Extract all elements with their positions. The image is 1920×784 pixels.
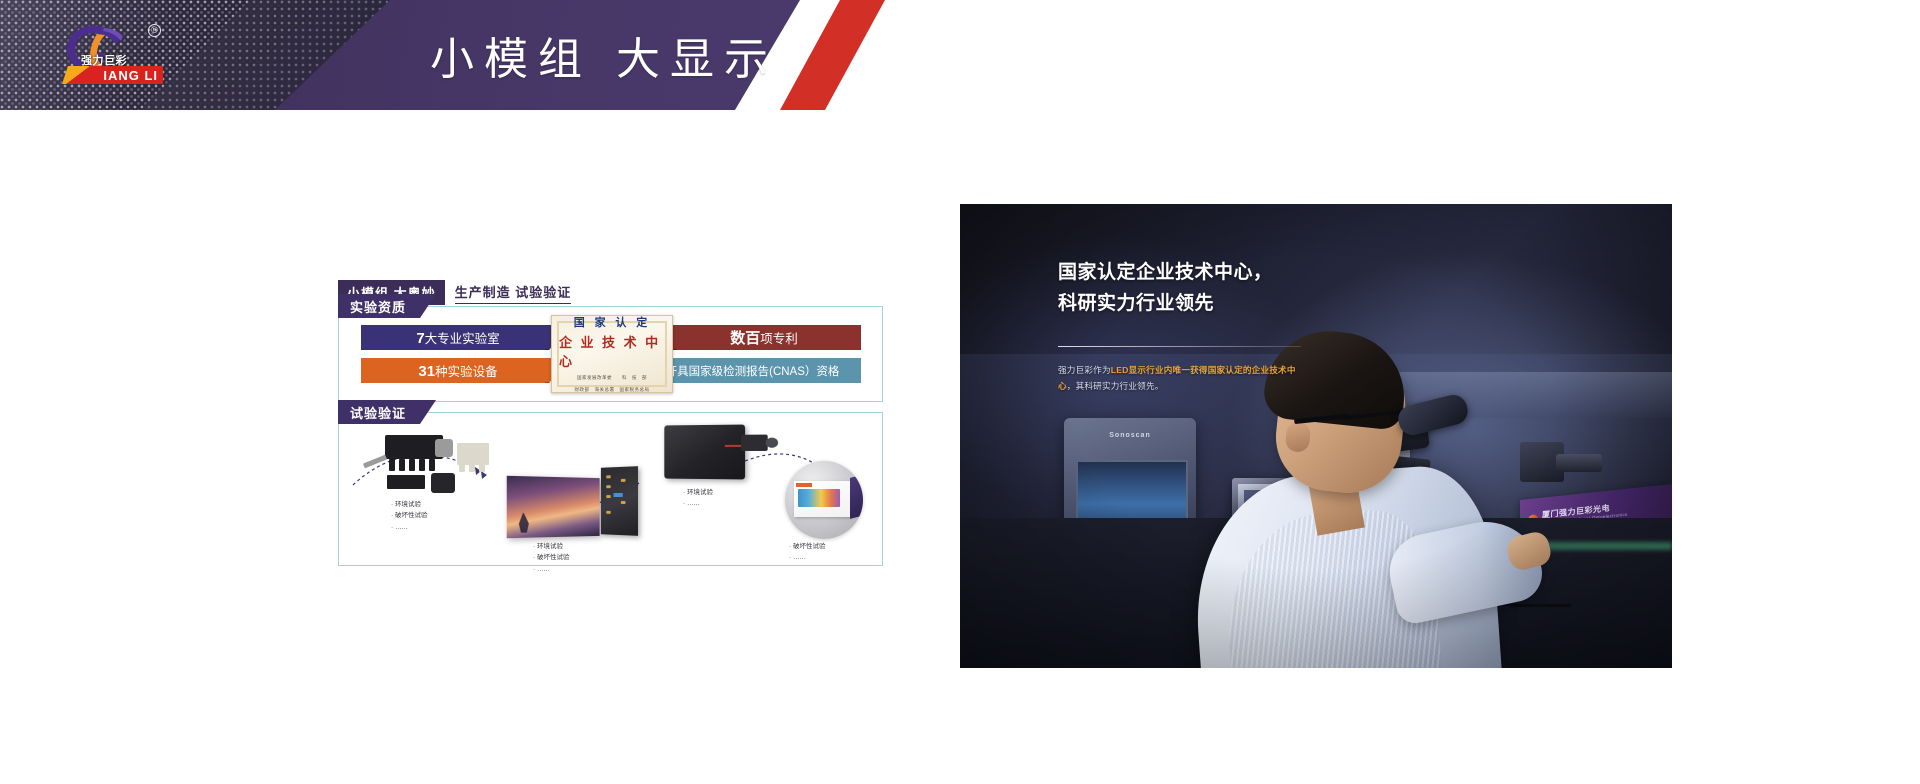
caption-line: · …… xyxy=(789,552,825,563)
banner-equipment: 31种实验设备 xyxy=(361,358,571,383)
flow-step-powerbox-captions: · 环境试验 · …… xyxy=(683,487,713,510)
caption-line: · 破坏性试验 xyxy=(533,552,569,563)
caption-line: · 环境试验 xyxy=(391,499,427,510)
banner-patents-text: 项专利 xyxy=(760,332,798,346)
caption-line: · …… xyxy=(533,564,569,575)
caption-line: · …… xyxy=(391,522,427,533)
photo-heading: 国家认定企业技术中心， 科研实力行业领先 xyxy=(1058,257,1273,320)
product-carton xyxy=(794,481,852,517)
caption-line: · 破坏性试验 xyxy=(391,510,427,521)
carton-side-panel xyxy=(850,474,863,519)
banner-labs-text: 大专业实验室 xyxy=(425,332,500,346)
left-content-card: 小模组 大奥妙 生产制造 试验验证 实验资质 7大专业实验室 31种实验设备 数… xyxy=(338,280,883,630)
banner-patents: 数百项专利 xyxy=(651,325,861,350)
photo-heading-divider xyxy=(1058,346,1301,347)
terminal-pin-3 xyxy=(479,463,485,472)
logo-english-name: IANG LI xyxy=(103,68,158,83)
certificate-inner-frame: 国 家 认 定 企 业 技 术 中 心 国家发展改革委 科 技 部 财政部 海关… xyxy=(557,321,667,387)
verification-flow-diagram: · 环境试验 · 破坏性试验 · …… · 环境试验 · 破坏性试验 · …… xyxy=(339,413,882,565)
photo-heading-line-1: 国家认定企业技术中心， xyxy=(1058,257,1273,288)
photo-body-prefix: 强力巨彩作为 xyxy=(1058,365,1111,375)
caption-line: · 环境试验 xyxy=(533,541,569,552)
sonoscan-brand-label: Sonoscan xyxy=(1064,432,1196,439)
card-subtitle: 生产制造 试验验证 xyxy=(455,282,572,304)
certificate-line-1: 国 家 认 定 xyxy=(574,314,651,330)
logo-name-bar: IANG LI xyxy=(77,66,163,84)
certificate-line-2: 企 业 技 术 中 心 xyxy=(559,332,665,370)
flow-step-power-box: · 环境试验 · …… xyxy=(659,421,789,521)
banner-labs: 7大专业实验室 xyxy=(361,325,571,350)
ic-chip xyxy=(387,475,425,489)
pin-2 xyxy=(399,459,405,471)
photo-body-text: 强力巨彩作为LED显示行业内唯一获得国家认定的企业技术中心，其科研实力行业领先。 xyxy=(1058,363,1296,395)
registered-trademark-icon: ® xyxy=(148,24,161,37)
terminal-pin-1 xyxy=(459,463,465,472)
terminal-pin-2 xyxy=(469,463,475,472)
qualification-panel: 实验资质 7大专业实验室 31种实验设备 数百项专利 具备开具国家级检测报告(C… xyxy=(338,306,883,402)
flow-step-screen-captions: · 环境试验 · 破坏性试验 · …… xyxy=(533,541,569,575)
qualification-tab-label: 实验资质 xyxy=(338,294,436,318)
banner-patents-number: 数百 xyxy=(730,330,760,347)
power-supply-box xyxy=(664,425,745,480)
carton-artwork xyxy=(798,489,840,507)
flow-step-packaged-product: · 破坏性试验 · …… xyxy=(783,461,879,561)
product-photo-circle xyxy=(785,461,863,539)
screw-icon xyxy=(363,455,387,469)
page-header: ® 强力巨彩 IANG LI 小模组 大显示 xyxy=(0,0,1920,110)
photo-body-suffix: ，其科研实力行业领先。 xyxy=(1067,381,1164,391)
led-display-screen xyxy=(507,476,600,538)
verification-panel: 试验验证 xyxy=(338,412,883,566)
caption-line: · 环境试验 xyxy=(683,487,713,498)
small-part xyxy=(435,439,453,457)
pin-4 xyxy=(419,459,425,471)
banner-equipment-text: 种实验设备 xyxy=(435,365,498,379)
company-logo: ® 强力巨彩 IANG LI xyxy=(55,22,165,88)
lab-photo-panel: Sonoscan 厦门强力巨彩光电 Xiamen Qiangli Jucai O… xyxy=(960,204,1672,668)
page-title: 小模组 大显示 xyxy=(430,0,778,110)
caption-line: · …… xyxy=(683,498,713,509)
flow-step-components: · 环境试验 · 破坏性试验 · …… xyxy=(361,427,481,537)
led-package xyxy=(431,473,455,493)
flow-step-product-captions: · 破坏性试验 · …… xyxy=(789,541,825,564)
pin-3 xyxy=(409,459,415,471)
photo-heading-line-2: 科研实力行业领先 xyxy=(1058,288,1273,319)
led-module-pcb xyxy=(601,466,638,536)
power-connector xyxy=(741,435,768,451)
banner-labs-number: 7 xyxy=(416,330,424,347)
pin-5 xyxy=(429,459,435,471)
certificate-fine-print-2: 财政部 海关总署 国家税务总局 xyxy=(575,387,650,394)
banner-equipment-number: 31 xyxy=(418,363,435,380)
carton-ribbon xyxy=(796,483,812,487)
pin-1 xyxy=(389,459,395,471)
certificate-fine-print-1: 国家发展改革委 科 技 部 xyxy=(577,375,647,382)
flow-step-components-captions: · 环境试验 · 破坏性试验 · …… xyxy=(391,499,427,533)
terminal-block xyxy=(457,443,489,465)
certificate-image: 国 家 认 定 企 业 技 术 中 心 国家发展改革委 科 技 部 财政部 海关… xyxy=(551,315,673,393)
flow-step-module-screen: · 环境试验 · 破坏性试验 · …… xyxy=(507,463,667,563)
caption-line: · 破坏性试验 xyxy=(789,541,825,552)
inspection-camera-lens xyxy=(1556,454,1602,472)
